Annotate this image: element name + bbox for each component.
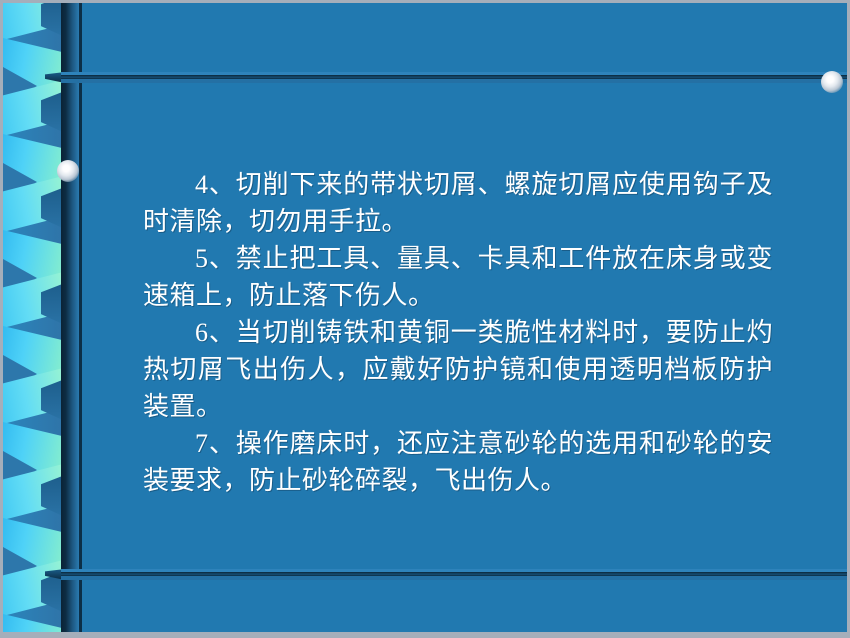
divider-lowlight [61, 79, 847, 83]
slide-body-text: 4、切削下来的带状切屑、螺旋切屑应使用钩子及时清除，切勿用手拉。 5、禁止把工具… [143, 166, 773, 499]
slide-content-area: 4、切削下来的带状切屑、螺旋切屑应使用钩子及时清除，切勿用手拉。 5、禁止把工具… [3, 3, 847, 635]
ribbon-segment [3, 517, 63, 613]
ribbon-segment [3, 325, 63, 421]
glow-sphere-icon-right [821, 71, 843, 93]
paragraph-5: 5、禁止把工具、量具、卡具和工件放在床身或变速箱上，防止落下伤人。 [143, 240, 773, 314]
divider-bottom [61, 569, 847, 580]
ribbon-decoration [3, 3, 63, 635]
presentation-slide: 4、切削下来的带状切屑、螺旋切屑应使用钩子及时清除，切勿用手拉。 5、禁止把工具… [0, 0, 850, 638]
divider-lowlight [61, 576, 847, 580]
vertical-rail [61, 3, 79, 635]
divider-top [61, 72, 847, 83]
ribbon-segment [3, 3, 63, 37]
paragraph-6: 6、当切削铸铁和黄铜一类脆性材料时，要防止灼热切屑飞出伤人，应戴好防护镜和使用透… [143, 314, 773, 425]
glow-sphere-icon-left [57, 160, 79, 182]
ribbon-segment [3, 133, 63, 229]
ribbon-segment [3, 229, 63, 325]
paragraph-7: 7、操作磨床时，还应注意砂轮的选用和砂轮的安装要求，防止砂轮碎裂，飞出伤人。 [143, 425, 773, 499]
ribbon-fold-shadow-right [41, 3, 63, 37]
paragraph-4: 4、切削下来的带状切屑、螺旋切屑应使用钩子及时清除，切勿用手拉。 [143, 166, 773, 240]
ribbon-segment [3, 421, 63, 517]
vertical-rail-edge [79, 3, 82, 635]
slide-bottom-strip [3, 632, 847, 635]
ribbon-segment [3, 37, 63, 133]
